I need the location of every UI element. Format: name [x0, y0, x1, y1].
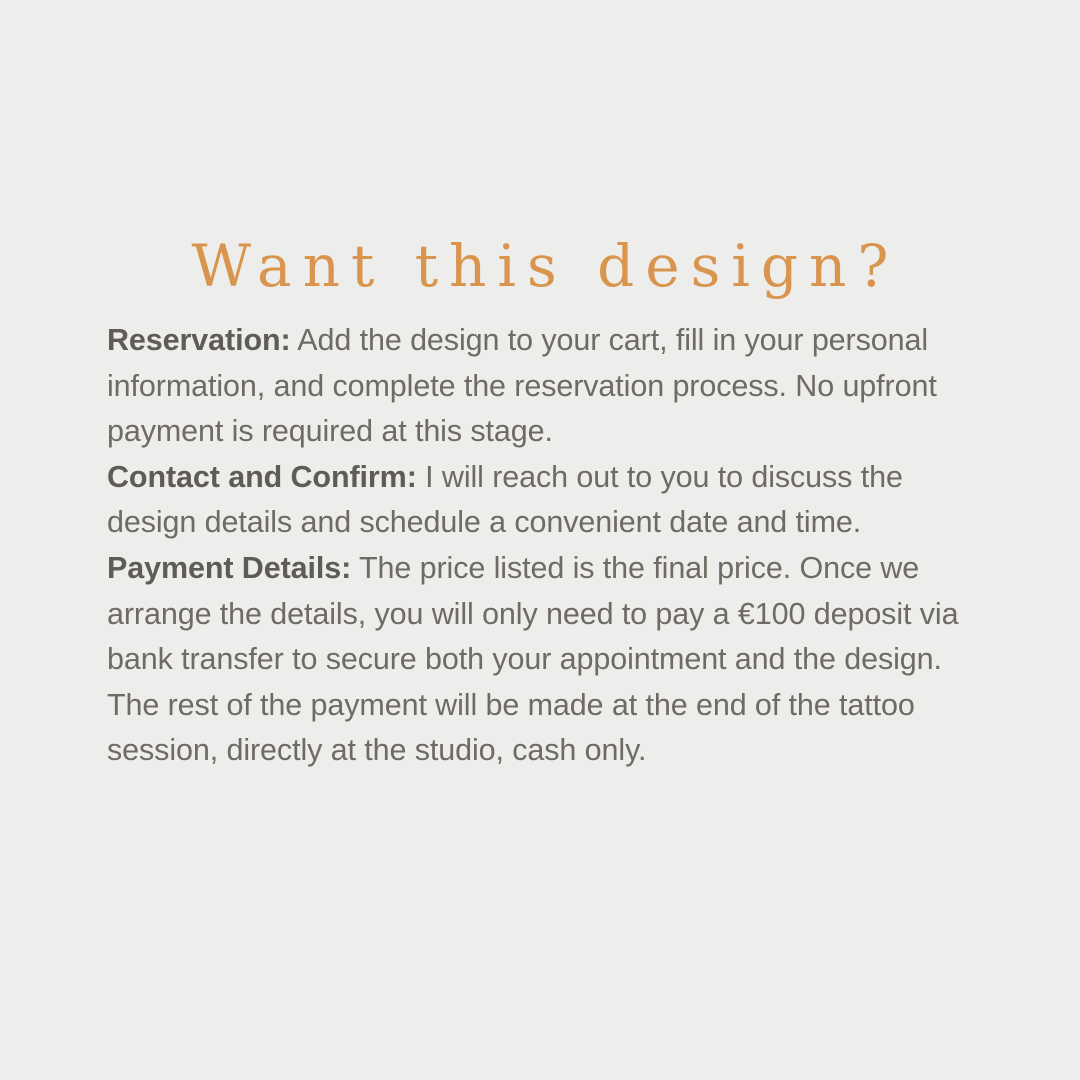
section-label-payment-details: Payment Details: [107, 551, 351, 585]
section-contact-and-confirm: Contact and Confirm: I will reach out to… [107, 455, 985, 546]
page-title: Want this design? [0, 235, 1080, 299]
info-card: Want this design? Reservation: Add the d… [0, 0, 1080, 1080]
section-reservation: Reservation: Add the design to your cart… [107, 318, 985, 455]
section-payment-details: Payment Details: The price listed is the… [107, 546, 985, 774]
section-label-contact-and-confirm: Contact and Confirm: [107, 460, 417, 494]
instructions-block: Reservation: Add the design to your cart… [107, 318, 985, 774]
section-label-reservation: Reservation: [107, 323, 291, 357]
